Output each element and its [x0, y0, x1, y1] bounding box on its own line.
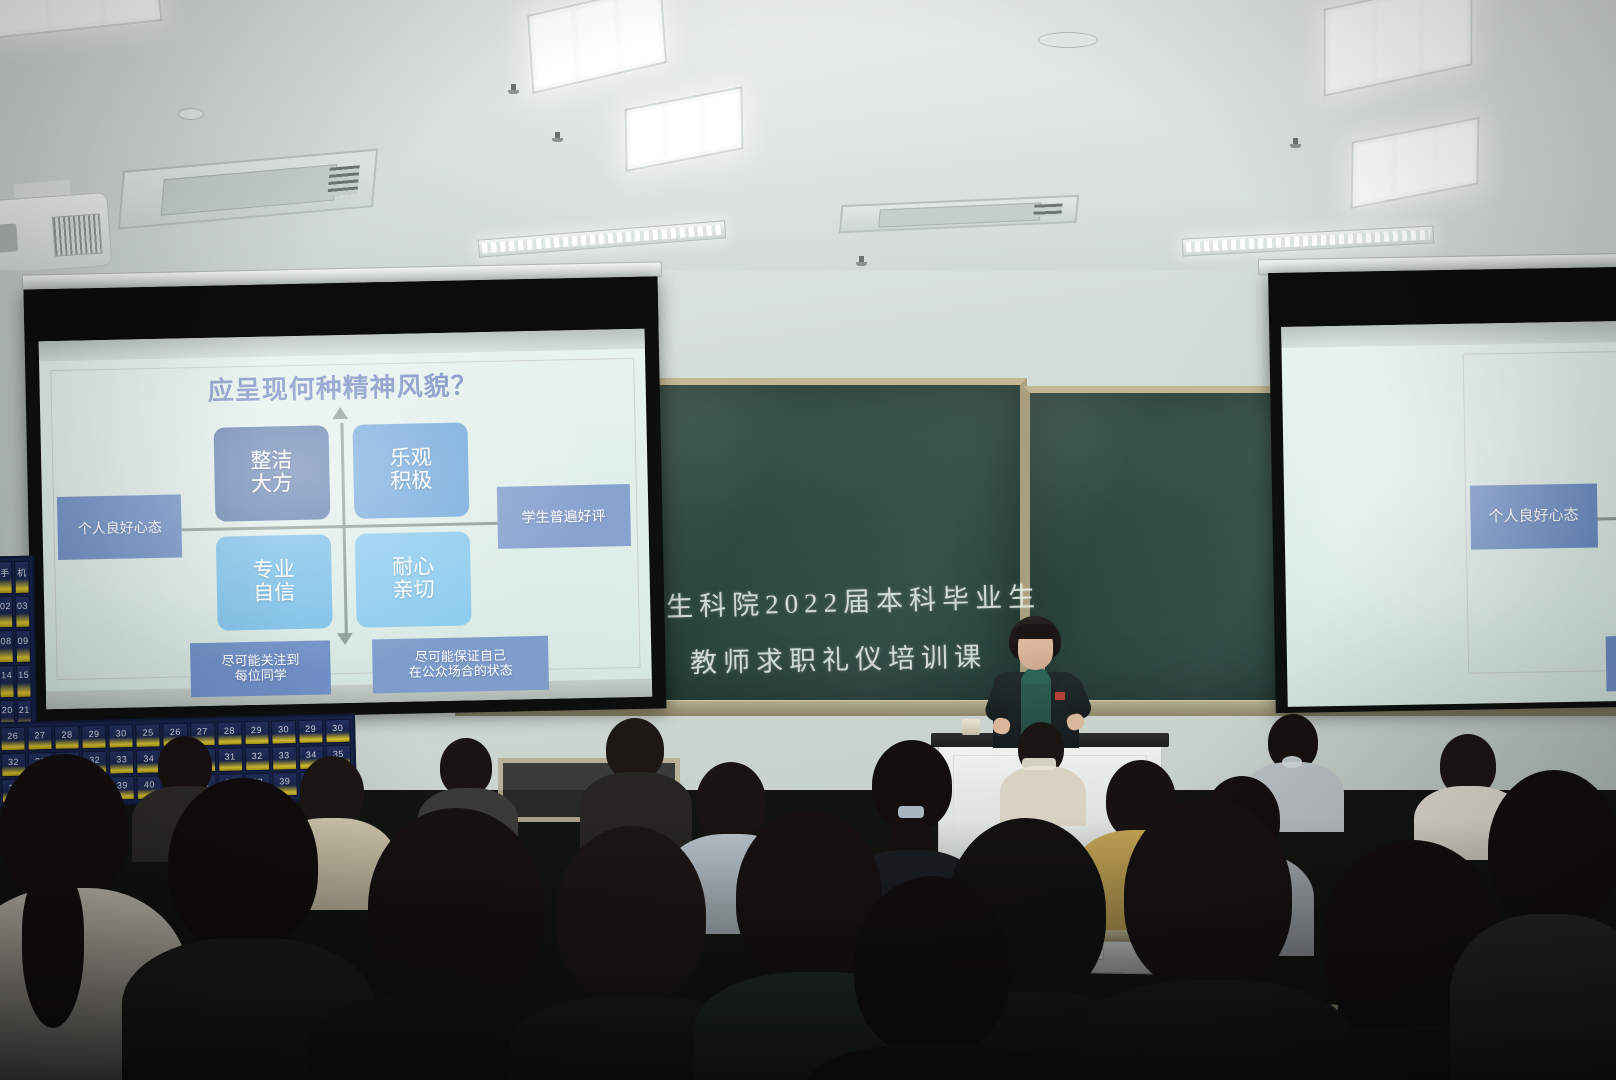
quadrant-label-line2: 大方: [251, 473, 293, 497]
blackboard-text-line-2: 教师求职礼仪培训课: [690, 635, 988, 680]
quadrant-label-line1: 整洁: [250, 450, 292, 474]
projector-vent-icon: [52, 214, 103, 257]
side-label-text: 个人良好心态: [78, 518, 162, 536]
quadrant-label-line2: 自信: [253, 582, 295, 606]
presenter-badge: [1055, 692, 1065, 700]
quadrant-label-line1: 专业: [253, 559, 295, 583]
smoke-detector-icon: [178, 108, 204, 120]
audience-head: [606, 718, 664, 780]
projection-screen-left: 应呈现何种精神风貌？ 整洁 大方 乐观 积极 专业: [24, 276, 667, 721]
quadrant-label-line1: 耐心: [392, 556, 434, 580]
slide-bottom-label-left: 尽可能关注到 每位同学: [190, 641, 330, 697]
side-label-text: 学生普遍好评: [521, 507, 605, 525]
hair-tie: [1282, 756, 1302, 768]
screen-masking-band: [1268, 267, 1616, 327]
quadrant-label-line1: 乐观: [390, 448, 432, 472]
presenter-bangs: [1015, 624, 1057, 639]
bottom-label-line2: 每位同学: [235, 668, 287, 684]
projector-lens-icon: [0, 223, 18, 252]
sprinkler-head-icon: [508, 84, 519, 97]
audience-body: [1000, 766, 1086, 826]
screen-surface-right: 应呈现何种精神风貌？ 整洁 大方 乐观 积极 专业 自信 个人良好心态: [1281, 321, 1616, 707]
audience-head: [696, 762, 766, 842]
slide-side-label-left: 个人良好心态: [1469, 483, 1597, 550]
slide-bottom-label-left: 尽可能关注到 每位同学: [1605, 634, 1616, 692]
slide-bottom-label-right: 尽可能保证自己 在公众场合的状态: [372, 636, 549, 693]
slide-arrow-down-icon: [337, 633, 353, 645]
quadrant-label-line2: 积极: [390, 470, 432, 494]
smoke-detector-icon: [1038, 32, 1098, 48]
lecture-hall-photo: 生科院2022届本科毕业生 教师求职礼仪培训课 应呈现何种精神风貌？ 整洁: [0, 0, 1616, 1080]
audience-head: [1488, 770, 1616, 928]
audience-hair-strand: [22, 868, 84, 1028]
slide-side-label-right: 学生普遍好评: [496, 484, 631, 549]
side-label-text: 个人良好心态: [1488, 507, 1578, 526]
slide-quadrant-box: 耐心 亲切: [355, 531, 472, 627]
slide-quadrant-box: 整洁 大方: [213, 425, 330, 521]
audience-body: [1450, 914, 1616, 1080]
slide-arrow-up-icon: [332, 407, 348, 419]
quadrant-label-line2: 亲切: [392, 579, 434, 603]
hair-tie: [1022, 758, 1056, 770]
audience: [0, 700, 1616, 1080]
slide-side-label-left: 个人良好心态: [57, 495, 183, 560]
slide-left: 应呈现何种精神风貌？ 整洁 大方 乐观 积极 专业: [39, 329, 653, 710]
audience-head: [556, 826, 706, 1004]
audience-head: [854, 876, 1010, 1056]
slide-quadrant-box: 乐观 积极: [353, 423, 470, 519]
sprinkler-head-icon: [552, 132, 563, 145]
slide-quadrant-box: 专业 自信: [215, 534, 332, 630]
ceiling-projector: [0, 192, 112, 274]
bottom-label-line2: 在公众场合的状态: [409, 664, 513, 681]
presenter-collar: [1023, 668, 1049, 684]
audience-head: [368, 808, 544, 1006]
audience-head: [168, 778, 318, 950]
hair-tie: [898, 806, 924, 818]
slide-right: 应呈现何种精神风貌？ 整洁 大方 乐观 积极 专业 自信 个人良好心态: [1451, 321, 1616, 704]
audience-head: [1124, 798, 1292, 992]
projection-screen-right: 应呈现何种精神风貌？ 整洁 大方 乐观 积极 专业 自信 个人良好心态: [1268, 267, 1616, 713]
sprinkler-head-icon: [856, 256, 867, 269]
sprinkler-head-icon: [1290, 138, 1301, 151]
screen-surface-left: 应呈现何种精神风貌？ 整洁 大方 乐观 积极 专业: [39, 329, 653, 710]
